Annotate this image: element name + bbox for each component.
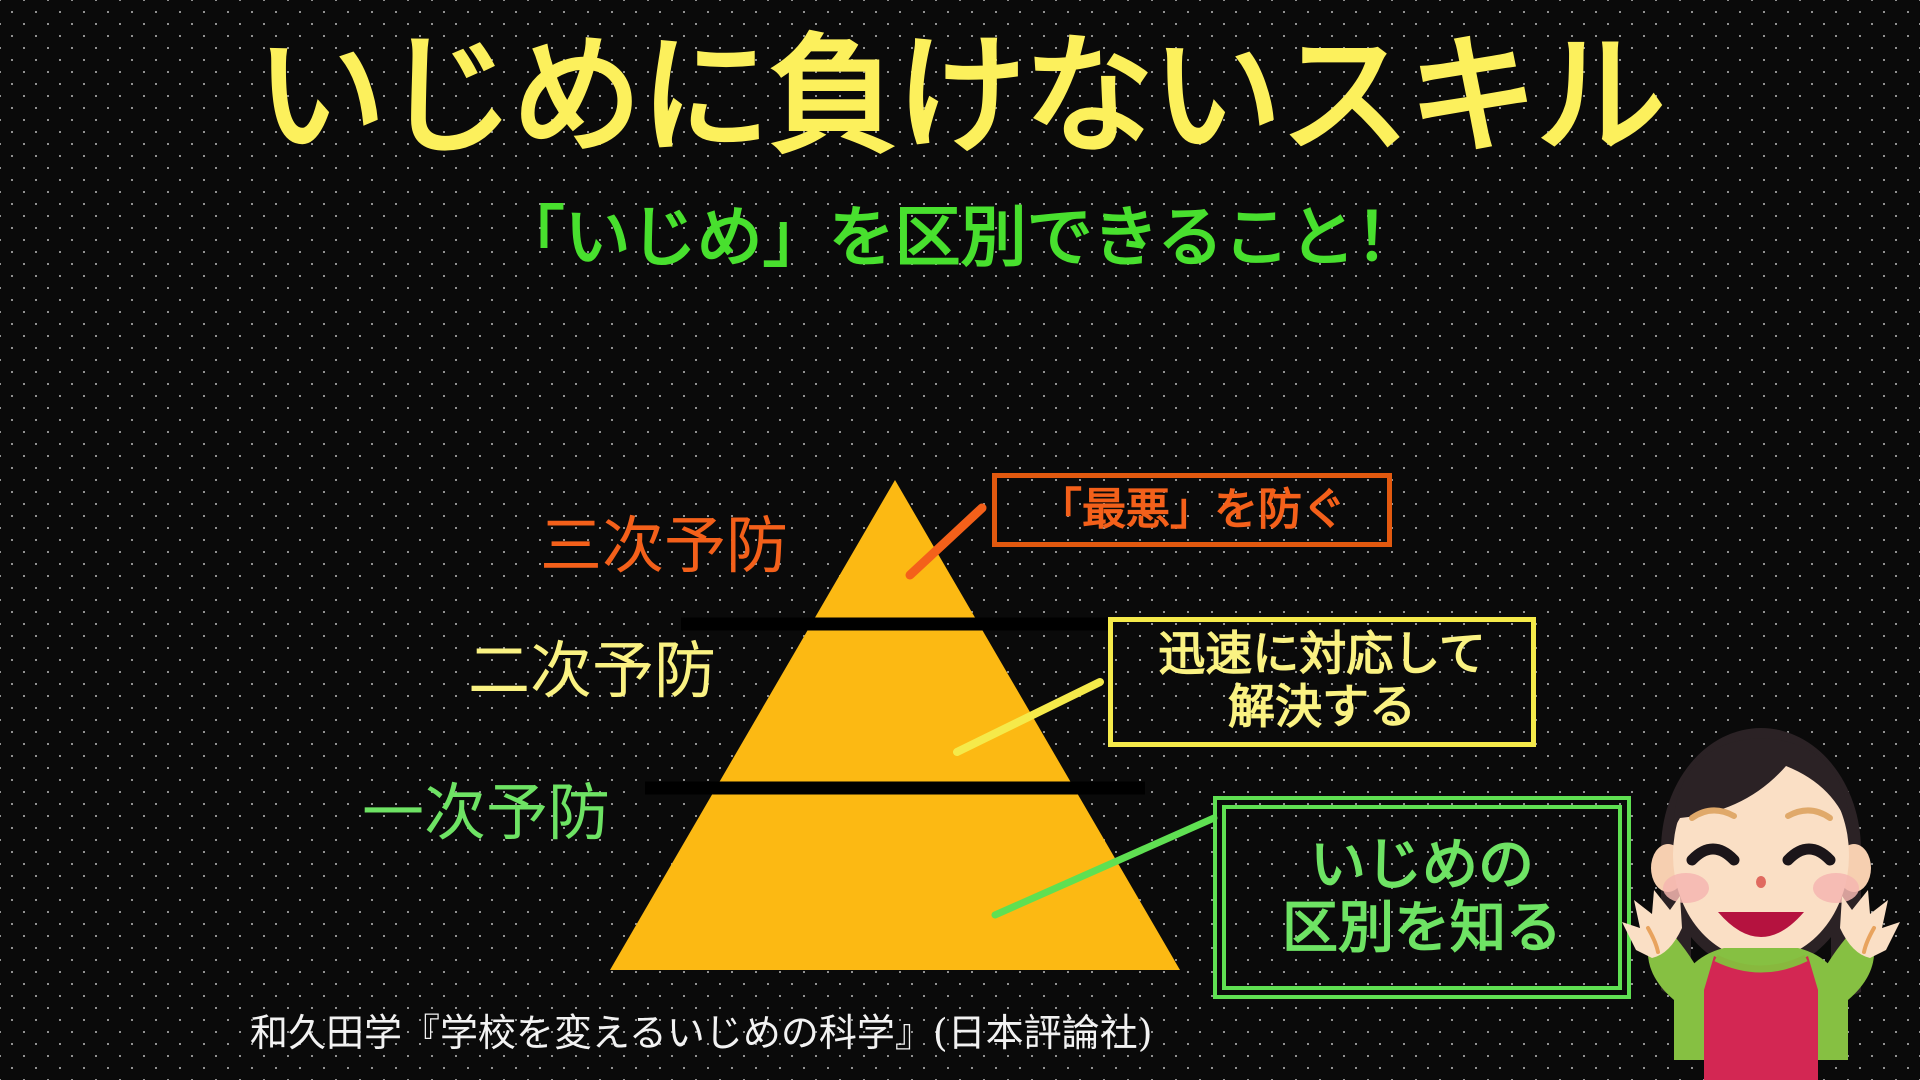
callout-know-line-2: 区別を知る	[1282, 898, 1562, 961]
callout-box-know: いじめの 区別を知る	[1222, 805, 1622, 990]
blush-right	[1813, 873, 1859, 903]
callout-know-line-1: いじめの	[1310, 835, 1534, 898]
page-title: いじめに負けないスキル	[0, 28, 1920, 165]
callout-respond-line-1: 迅速に対応して	[1158, 629, 1486, 682]
callout-worst-line-1: 「最悪」を防ぐ	[1038, 485, 1346, 534]
slide-canvas: いじめに負けないスキル 「いじめ」を区別できること！ 三次予防 二次予防 一次予…	[0, 0, 1920, 1080]
pyramid-tier-label-primary: 一次予防	[362, 782, 610, 844]
callout-box-respond: 迅速に対応して 解決する	[1108, 617, 1536, 747]
pyramid-tier-label-tertiary: 三次予防	[540, 515, 788, 577]
callout-respond-line-2: 解決する	[1228, 682, 1416, 735]
source-citation: 和久田学『学校を変えるいじめの科学』(日本評論社)	[250, 1002, 1153, 1057]
cheering-woman-illustration	[1596, 700, 1920, 1080]
nose	[1756, 876, 1766, 888]
page-subtitle: 「いじめ」を区別できること！	[0, 202, 1920, 275]
pyramid-tier-label-secondary: 二次予防	[468, 640, 716, 702]
blush-left	[1663, 873, 1709, 903]
apron	[1704, 956, 1818, 1080]
callout-box-worst: 「最悪」を防ぐ	[992, 473, 1392, 547]
